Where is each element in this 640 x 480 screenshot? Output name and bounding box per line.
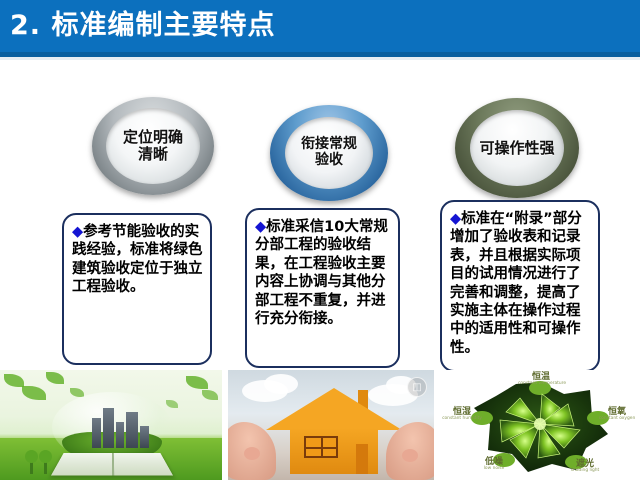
star-label-left: 恒湿 constant humidity (442, 408, 482, 422)
leaf-icon (46, 372, 64, 384)
building-shape (92, 418, 101, 448)
star-label-bottom-left-en: low noise (474, 467, 514, 472)
textbox-conventional-acceptance-paragraph: ◆标准采信10大常规分部工程的验收结果，在工程验收主要内容上协调与其他分部工程不… (255, 218, 391, 328)
bullet-icon: ◆ (72, 224, 83, 240)
leaf-icon (186, 376, 208, 389)
badge-positioning[interactable]: 定位明确 清晰 (92, 97, 214, 195)
bullet-icon: ◆ (255, 219, 266, 235)
textbox-operability-text: 标准在“附录”部分增加了验收表和记录表，并且根据实际项目的试用情况进行了完善和调… (450, 211, 582, 356)
star-label-top: 恒温 constant temperature (518, 373, 564, 387)
leaf-icon (202, 390, 218, 400)
slide-canvas: 2. 标准编制主要特点 定位明确 清晰 衔接常规 验收 可操作性强 ◆参考节能验… (0, 0, 640, 480)
badge-operability-label: 可操作性强 (479, 140, 554, 157)
textbox-conventional-acceptance: ◆标准采信10大常规分部工程的验收结果，在工程验收主要内容上协调与其他分部工程不… (245, 208, 400, 368)
badge-operability[interactable]: 可操作性强 (455, 98, 579, 198)
badge-conventional-acceptance[interactable]: 衔接常规 验收 (270, 105, 388, 201)
bullet-icon: ◆ (450, 211, 461, 227)
textbox-conventional-acceptance-text: 标准采信10大常规分部工程的验收结果，在工程验收主要内容上协调与其他分部工程不重… (255, 219, 388, 327)
star-diagram: 恒温 constant temperature 恒湿 constant humi… (468, 378, 612, 474)
leaf-icon (22, 386, 46, 400)
photo-orange-house-hands: ◫ (228, 370, 434, 480)
star-center (534, 418, 546, 430)
star-label-top-en: constant temperature (518, 382, 564, 387)
badge-conventional-acceptance-line2: 验收 (315, 152, 343, 168)
leaf-icon (166, 400, 178, 408)
fingernail-shape (402, 449, 418, 462)
building-shape (116, 422, 124, 448)
badge-operability-line1: 可操作性强 (479, 139, 554, 157)
open-book (51, 453, 173, 475)
textbox-positioning-paragraph: ◆参考节能验收的实践经验，标准将绿色建筑验收定位于独立工程验收。 (72, 223, 203, 297)
textbox-operability-paragraph: ◆标准在“附录”部分增加了验收表和记录表，并且根据实际项目的试用情况进行了完善和… (450, 210, 591, 357)
star-label-bottom-left: 低噪 low noise (474, 458, 514, 472)
roof-shape (266, 388, 402, 430)
fingernail-shape (244, 447, 260, 460)
star-label-bottom-right: 遮光 shading light (564, 460, 606, 474)
badge-conventional-acceptance-label: 衔接常规 验收 (301, 137, 357, 168)
photo-eco-city-book (0, 370, 222, 480)
star-label-left-en: constant humidity (442, 417, 482, 422)
page-title: 2. 标准编制主要特点 (10, 9, 275, 43)
leaf-icon (4, 374, 24, 387)
door-shape (356, 444, 368, 474)
star-label-bottom-right-en: shading light (564, 469, 606, 474)
badge-positioning-label: 定位明确 清晰 (123, 129, 183, 163)
photo-green-star-diagram: 恒温 constant temperature 恒湿 constant humi… (440, 370, 640, 480)
tree-icon (30, 458, 33, 474)
star-label-right: 恒氧 constant oxygen (596, 408, 638, 422)
textbox-operability: ◆标准在“附录”部分增加了验收表和记录表，并且根据实际项目的试用情况进行了完善和… (440, 200, 600, 372)
badge-positioning-line1: 定位明确 (123, 128, 183, 146)
window-shape (304, 436, 338, 458)
building-shape (126, 412, 138, 448)
badge-conventional-acceptance-line1: 衔接常规 (301, 136, 357, 152)
star-label-right-en: constant oxygen (596, 417, 638, 422)
textbox-positioning: ◆参考节能验收的实践经验，标准将绿色建筑验收定位于独立工程验收。 (62, 213, 212, 365)
badge-positioning-line2: 清晰 (138, 145, 168, 163)
building-shape (140, 426, 149, 448)
tree-icon (44, 458, 47, 474)
image-watermark-icon: ◫ (407, 377, 427, 397)
title-separator (0, 57, 640, 60)
textbox-positioning-text: 参考节能验收的实践经验，标准将绿色建筑验收定位于独立工程验收。 (72, 224, 203, 295)
building-shape (103, 408, 114, 448)
